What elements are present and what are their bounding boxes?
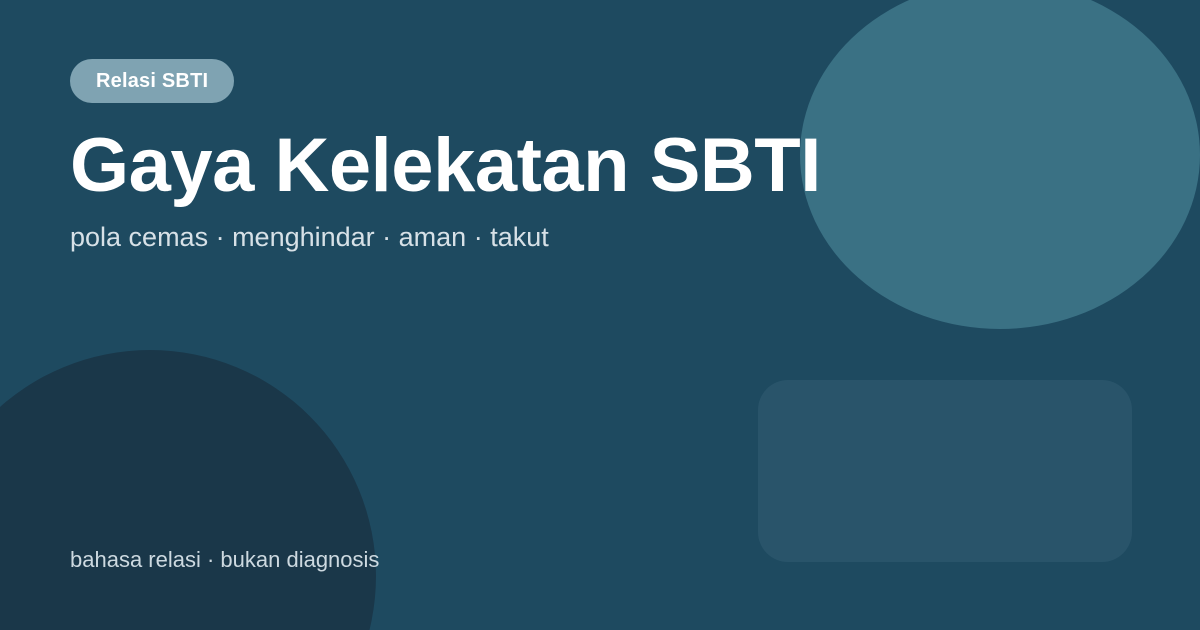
category-badge-label: Relasi SBTI	[96, 70, 208, 93]
page-subtitle: pola cemas · menghindar · aman · takut	[70, 219, 549, 255]
card-content: Relasi SBTI Gaya Kelekatan SBTI pola cem…	[70, 0, 1130, 630]
social-share-card: Relasi SBTI Gaya Kelekatan SBTI pola cem…	[0, 0, 1200, 630]
category-badge: Relasi SBTI	[70, 59, 234, 103]
page-title: Gaya Kelekatan SBTI	[70, 124, 821, 208]
card-footnote: bahasa relasi · bukan diagnosis	[70, 545, 379, 575]
